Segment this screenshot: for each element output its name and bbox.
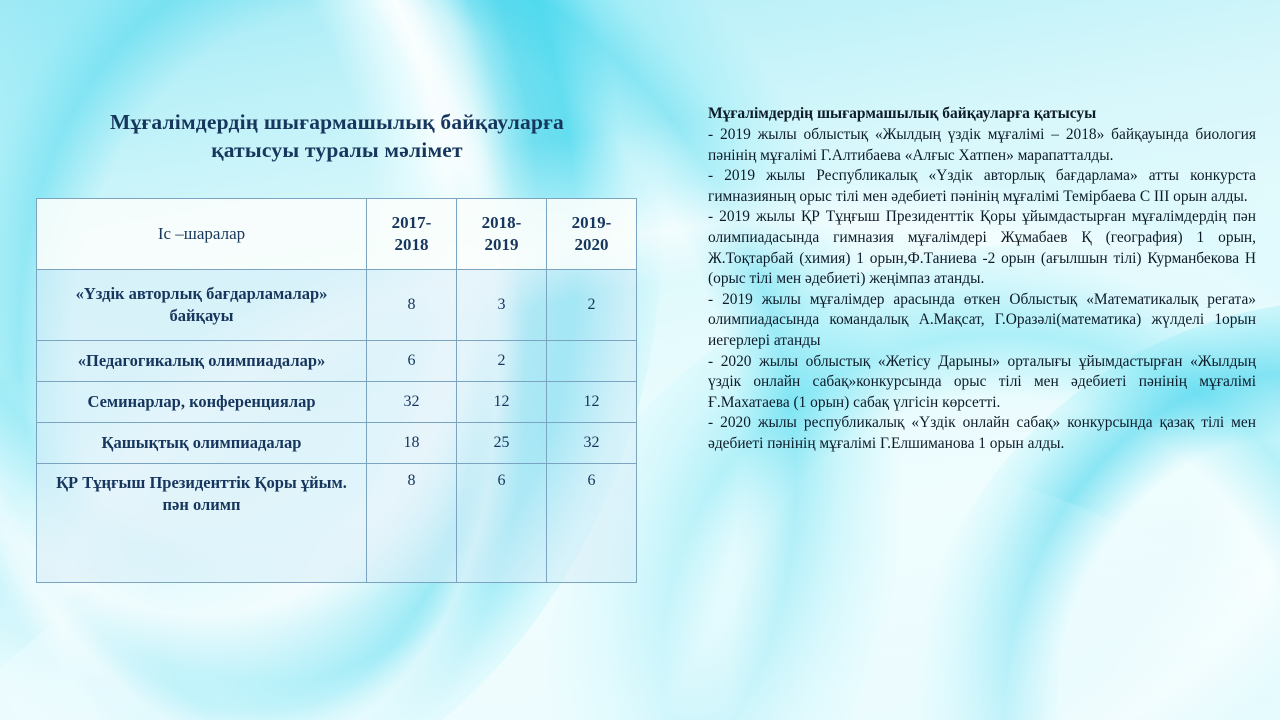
right-panel-paragraph: - 2019 жылы ҚР Тұңғыш Президенттік Қоры … [708,207,1256,289]
row-label: Семинарлар, конференциялар [37,382,367,423]
row-value: 3 [457,270,547,341]
table-header-row: Іс –шаралар 2017- 2018 2018- 2019 2019- … [37,199,637,270]
table-body: «Үздік авторлық бағдарламалар» байқауы 8… [37,270,637,583]
row-value: 32 [547,423,637,464]
table-row: ҚР Тұңғыш Президенттік Қоры ұйым. пән ол… [37,464,637,583]
slide-title-line-1: Мұғалімдердің шығармашылық байқауларға [36,108,638,136]
slide-title: Мұғалімдердің шығармашылық байқауларға қ… [36,108,638,164]
row-label: «Үздік авторлық бағдарламалар» байқауы [37,270,367,341]
row-label: ҚР Тұңғыш Президенттік Қоры ұйым. пән ол… [37,464,367,583]
table-row: Қашықтық олимпиадалар 18 25 32 [37,423,637,464]
right-panel-paragraph: - 2019 жылы мұғалімдер арасында өткен Об… [708,290,1256,352]
year-bottom-1: 2018 [395,235,429,254]
right-text-panel: Мұғалімдердің шығармашылық байқауларға қ… [708,104,1256,455]
row-label: Қашықтық олимпиадалар [37,423,367,464]
year-top-2: 2018- [482,213,522,232]
slide-title-line-2: қатысуы туралы мәлімет [36,136,638,164]
row-value: 12 [547,382,637,423]
right-panel-heading: Мұғалімдердің шығармашылық байқауларға қ… [708,104,1256,124]
table-header: Іс –шаралар 2017- 2018 2018- 2019 2019- … [37,199,637,270]
row-value: 18 [367,423,457,464]
participation-table: Іс –шаралар 2017- 2018 2018- 2019 2019- … [36,198,637,583]
row-value: 2 [547,270,637,341]
row-value: 6 [457,464,547,583]
row-value: 8 [367,464,457,583]
column-header-2017-2018: 2017- 2018 [367,199,457,270]
right-panel-paragraph: - 2020 жылы облыстық «Жетісу Дарыны» орт… [708,352,1256,414]
year-top-1: 2017- [392,213,432,232]
column-header-2019-2020: 2019- 2020 [547,199,637,270]
row-value: 25 [457,423,547,464]
row-value: 6 [547,464,637,583]
year-top-3: 2019- [572,213,612,232]
right-panel-paragraph: - 2019 жылы Республикалық «Үздік авторлы… [708,166,1256,207]
column-header-2018-2019: 2018- 2019 [457,199,547,270]
row-label: «Педагогикалық олимпиадалар» [37,341,367,382]
right-panel-paragraph: - 2020 жылы республикалық «Үздік онлайн … [708,413,1256,454]
row-value: 32 [367,382,457,423]
row-value: 6 [367,341,457,382]
slide-canvas: Мұғалімдердің шығармашылық байқауларға қ… [0,0,1280,720]
row-value: 8 [367,270,457,341]
right-panel-paragraph: - 2019 жылы облыстық «Жылдың үздік мұғал… [708,125,1256,166]
row-value: 12 [457,382,547,423]
row-value [547,341,637,382]
year-bottom-3: 2020 [575,235,609,254]
row-value: 2 [457,341,547,382]
table-row: «Педагогикалық олимпиадалар» 6 2 [37,341,637,382]
table-row: «Үздік авторлық бағдарламалар» байқауы 8… [37,270,637,341]
column-header-measure: Іс –шаралар [37,199,367,270]
year-bottom-2: 2019 [485,235,519,254]
table-row: Семинарлар, конференциялар 32 12 12 [37,382,637,423]
